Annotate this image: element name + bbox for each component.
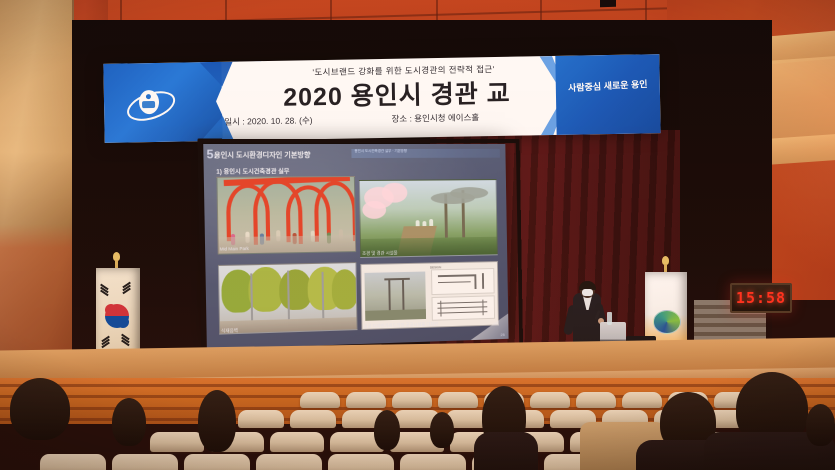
- projection-screen: 5. 용인시 도시환경디자인 기본방향 용인시 도시건축경관 실무 · 기본방향…: [203, 144, 508, 349]
- audience-head: [430, 412, 454, 448]
- digital-clock: 15:58: [730, 283, 792, 313]
- slide-photo-garden-caption: 조경 및 경관 시설물: [362, 250, 398, 257]
- banner-place: 장소 : 용인시청 에이스홀: [391, 111, 479, 125]
- slide-photo-trees-caption: 식재음벽: [221, 328, 238, 335]
- audience-head: [112, 398, 146, 446]
- auditorium-photo: '도시브랜드 강화를 위한 도시경관의 전략적 접근' 2020 용인시 경관 …: [0, 0, 835, 470]
- slide-top-note: 용인시 도시건축경관 실무 · 기본방향: [351, 149, 499, 158]
- slide-photo-park-caption: Mid Main Park: [220, 246, 249, 252]
- audience-shoulders: [474, 432, 538, 470]
- slide-page-number: 25: [501, 332, 505, 337]
- audience-head: [10, 378, 70, 440]
- yongin-city-logo: [126, 85, 173, 122]
- banner-date: 일시 : 2020. 10. 28. (수): [224, 114, 312, 128]
- audience-head: [374, 410, 400, 450]
- water-bottle: [607, 312, 612, 325]
- slide-photo-design: DESIGN: [360, 261, 499, 330]
- banner-right-blue-panel: [555, 54, 660, 135]
- clock-time: 15:58: [736, 289, 786, 307]
- slide-photo-park: [216, 176, 356, 255]
- slide-photo-garden: [359, 179, 498, 258]
- audience-head: [806, 404, 835, 446]
- slide-photo-trees: [218, 262, 358, 335]
- audience-seating: [0, 378, 835, 470]
- slide-heading: 용인시 도시환경디자인 기본방향: [214, 150, 311, 160]
- event-banner: '도시브랜드 강화를 위한 도시경관의 전략적 접근' 2020 용인시 경관 …: [103, 54, 660, 143]
- audience-head: [198, 390, 236, 452]
- presenter-face-mask: [582, 289, 593, 296]
- left-column-shading: [0, 0, 72, 400]
- slide-subheading: 1) 용인시 도시건축경관 실무: [216, 166, 289, 176]
